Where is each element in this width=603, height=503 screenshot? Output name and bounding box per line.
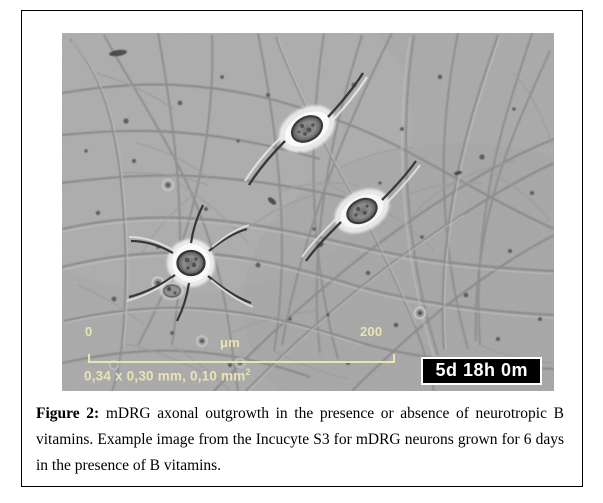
figure-caption-text: mDRG axonal outgrowth in the presence or… xyxy=(36,405,564,474)
figure-caption: Figure 2: mDRG axonal outgrowth in the p… xyxy=(36,401,564,479)
figure-caption-label: Figure 2: xyxy=(36,405,99,422)
micrograph-image: 0 μm 200 0,34 x 0,30 mm, 0,10 mm2 5d 18h… xyxy=(62,33,554,391)
figure-container: 0 μm 200 0,34 x 0,30 mm, 0,10 mm2 5d 18h… xyxy=(21,10,583,487)
timestamp-value: 5d 18h 0m xyxy=(435,360,528,380)
micrograph-canvas xyxy=(62,33,554,391)
timestamp-badge: 5d 18h 0m xyxy=(421,357,542,385)
